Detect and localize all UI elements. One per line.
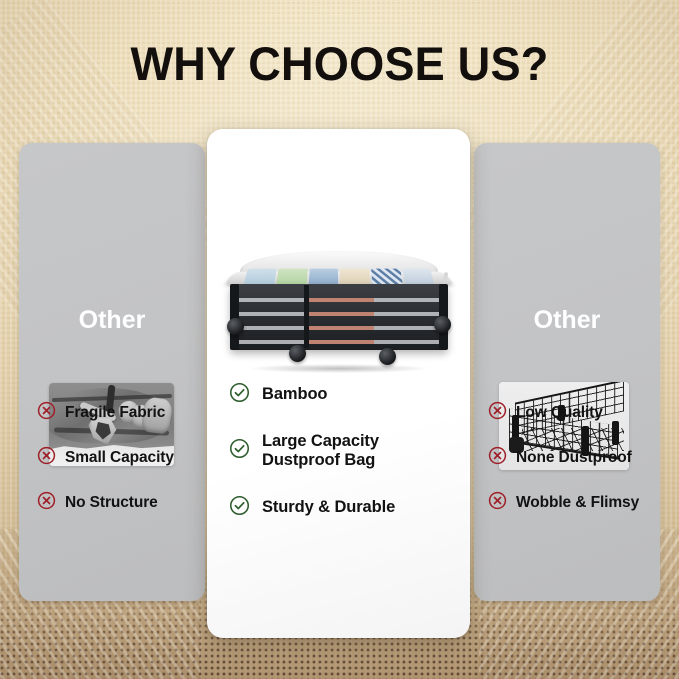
list-item-label: None Dustproof [516,449,632,467]
list-item: Fragile Fabric [37,401,195,425]
comparison-card-left: Other [19,143,205,601]
list-item-label: Small Capacity [65,449,174,467]
list-item: Large Capacity Dustproof Bag [229,432,456,471]
cross-circle-icon [37,491,56,515]
list-item-label: Sturdy & Durable [262,498,395,517]
list-item: Small Capacity [37,446,195,470]
comparison-card-right: Other Low Qualit [474,143,660,601]
card-heading-right: Other [474,308,660,333]
list-item-label: Bamboo [262,385,327,404]
list-item: Low Quality [488,401,650,425]
list-item: Bamboo [229,382,456,408]
list-item-label: Large Capacity Dustproof Bag [262,432,379,471]
check-circle-icon [229,438,250,464]
cross-circle-icon [37,401,56,425]
cross-circle-icon [488,446,507,470]
list-item-label-line2: Dustproof Bag [262,451,379,470]
check-circle-icon [229,495,250,521]
list-item-label: No Structure [65,494,158,512]
list-item-label: Low Quality [516,404,603,422]
list-item: Sturdy & Durable [229,495,456,521]
cross-circle-icon [37,446,56,470]
list-item-label-line1: Bamboo [262,385,327,403]
list-item-label-line1: Sturdy & Durable [262,498,395,516]
comparison-card-center: Our [207,129,470,638]
list-item-label: Wobble & Flimsy [516,494,639,512]
list-item-label: Fragile Fabric [65,404,165,422]
list-item: No Structure [37,491,195,515]
page-title: WHY CHOOSE US? [14,40,666,87]
under-bed-storage-organizer-photo [215,217,463,385]
cross-circle-icon [488,491,507,515]
cross-circle-icon [488,401,507,425]
feature-list-right: Low Quality None Dustproof [488,401,650,536]
list-item-label-line1: Large Capacity [262,432,379,450]
infographic-canvas: WHY CHOOSE US? Other [0,0,679,679]
list-item: Wobble & Flimsy [488,491,650,515]
feature-list-center: Bamboo Large Capacity Dustproof Bag [229,382,456,545]
list-item: None Dustproof [488,446,650,470]
card-heading-left: Other [19,308,205,333]
check-circle-icon [229,382,250,408]
feature-list-left: Fragile Fabric Small Capacity [37,401,195,536]
